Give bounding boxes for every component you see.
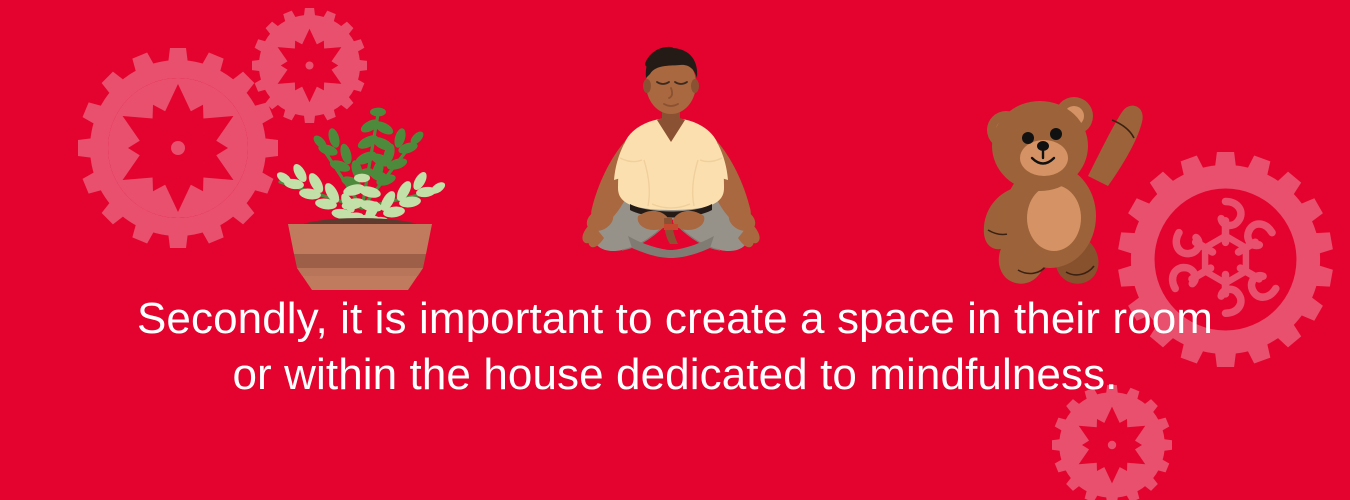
potted-plant-illustration (250, 78, 470, 290)
meditating-person-illustration (560, 40, 782, 280)
teddy-bear-illustration (962, 84, 1154, 286)
gear-icon-large-left (78, 48, 278, 248)
caption-text: Secondly, it is important to create a sp… (0, 291, 1350, 403)
slide-canvas: Secondly, it is important to create a sp… (0, 0, 1350, 500)
